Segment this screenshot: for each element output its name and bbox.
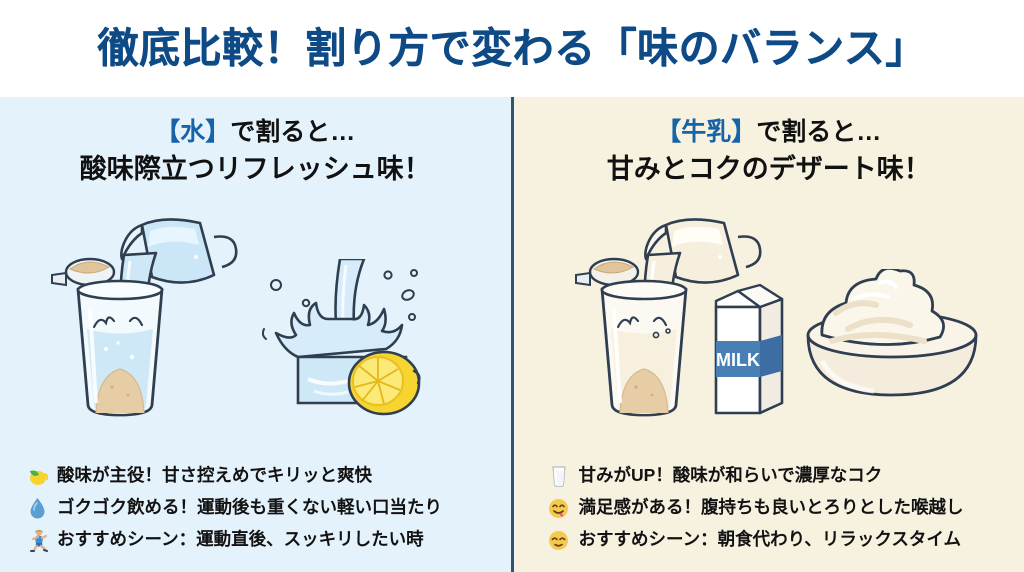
page-title: 徹底比較！割り方で変わる「味のバランス」 <box>97 28 926 69</box>
panel-milk-heading-line1: 【牛乳】で割ると… <box>514 117 1024 148</box>
panel-milk-bullets: 甘みがUP！酸味が和らいで濃厚なコク 満足感がある！腹持ちも良いとろりとした喉越… <box>514 460 1024 556</box>
panel-water-heading-line1: 【水】で割ると… <box>0 117 511 148</box>
panel-milk: 【牛乳】で割ると… 甘みとコクのデザート味！ <box>514 97 1024 572</box>
runner-icon <box>26 528 48 552</box>
panel-milk-heading-rest: で割ると… <box>756 118 881 146</box>
bullet-item: 酸味が主役！甘さ控えめでキリッと爽快 <box>26 460 511 492</box>
panel-milk-heading: 【牛乳】で割ると… 甘みとコクのデザート味！ <box>514 117 1024 187</box>
glass-with-powder-and-milk-pitcher-icon: MILK <box>570 217 810 422</box>
panel-milk-tag: 【牛乳】 <box>656 118 756 146</box>
milk-glass-icon <box>548 464 570 488</box>
savoring-face-icon <box>548 496 570 520</box>
bullet-text: おすすめシーン：朝食代わり、リラックスタイム <box>579 531 962 549</box>
lemon-icon <box>26 464 48 488</box>
panel-water: 【水】で割ると… 酸味際立つリフレッシュ味！ <box>0 97 511 572</box>
water-splash-with-lemon-icon <box>262 259 477 419</box>
panel-water-illustrations <box>0 217 511 432</box>
bullet-text: 甘みがUP！酸味が和らいで濃厚なコク <box>579 467 883 485</box>
panel-water-heading-rest: で割ると… <box>230 118 355 146</box>
panel-water-heading: 【水】で割ると… 酸味際立つリフレッシュ味！ <box>0 117 511 187</box>
water-drop-icon <box>26 496 48 520</box>
bullet-item: ゴクゴク飲める！運動後も重くない軽い口当たり <box>26 492 511 524</box>
bullet-item: おすすめシーン：朝食代わり、リラックスタイム <box>548 524 1024 556</box>
milk-carton-icon: MILK <box>716 285 782 413</box>
relieved-face-icon <box>548 528 570 552</box>
bullet-text: おすすめシーン：運動直後、スッキリしたい時 <box>57 531 424 549</box>
milk-carton-label: MILK <box>716 350 760 370</box>
panel-milk-illustrations: MILK <box>514 217 1024 432</box>
panel-water-tag: 【水】 <box>155 118 230 146</box>
bullet-item: おすすめシーン：運動直後、スッキリしたい時 <box>26 524 511 556</box>
infographic-slide: 徹底比較！割り方で変わる「味のバランス」 【水】で割ると… 酸味際立つリフレッシ… <box>0 0 1024 572</box>
bowl-of-cream-icon <box>792 269 992 417</box>
glass-with-powder-and-water-pitcher-icon <box>46 217 261 422</box>
title-band: 徹底比較！割り方で変わる「味のバランス」 <box>0 0 1024 97</box>
bullet-item: 満足感がある！腹持ちも良いとろりとした喉越し <box>548 492 1024 524</box>
bullet-text: 満足感がある！腹持ちも良いとろりとした喉越し <box>579 499 964 517</box>
bullet-item: 甘みがUP！酸味が和らいで濃厚なコク <box>548 460 1024 492</box>
panel-water-bullets: 酸味が主役！甘さ控えめでキリッと爽快 ゴクゴク飲める！運動後も重くない軽い口当た… <box>0 460 511 556</box>
bullet-text: ゴクゴク飲める！運動後も重くない軽い口当たり <box>57 499 442 517</box>
panel-milk-heading-line2: 甘みとコクのデザート味！ <box>514 152 1024 187</box>
panel-water-heading-line2: 酸味際立つリフレッシュ味！ <box>0 152 511 187</box>
bullet-text: 酸味が主役！甘さ控えめでキリッと爽快 <box>57 467 372 485</box>
comparison-panels: 【水】で割ると… 酸味際立つリフレッシュ味！ <box>0 97 1024 572</box>
